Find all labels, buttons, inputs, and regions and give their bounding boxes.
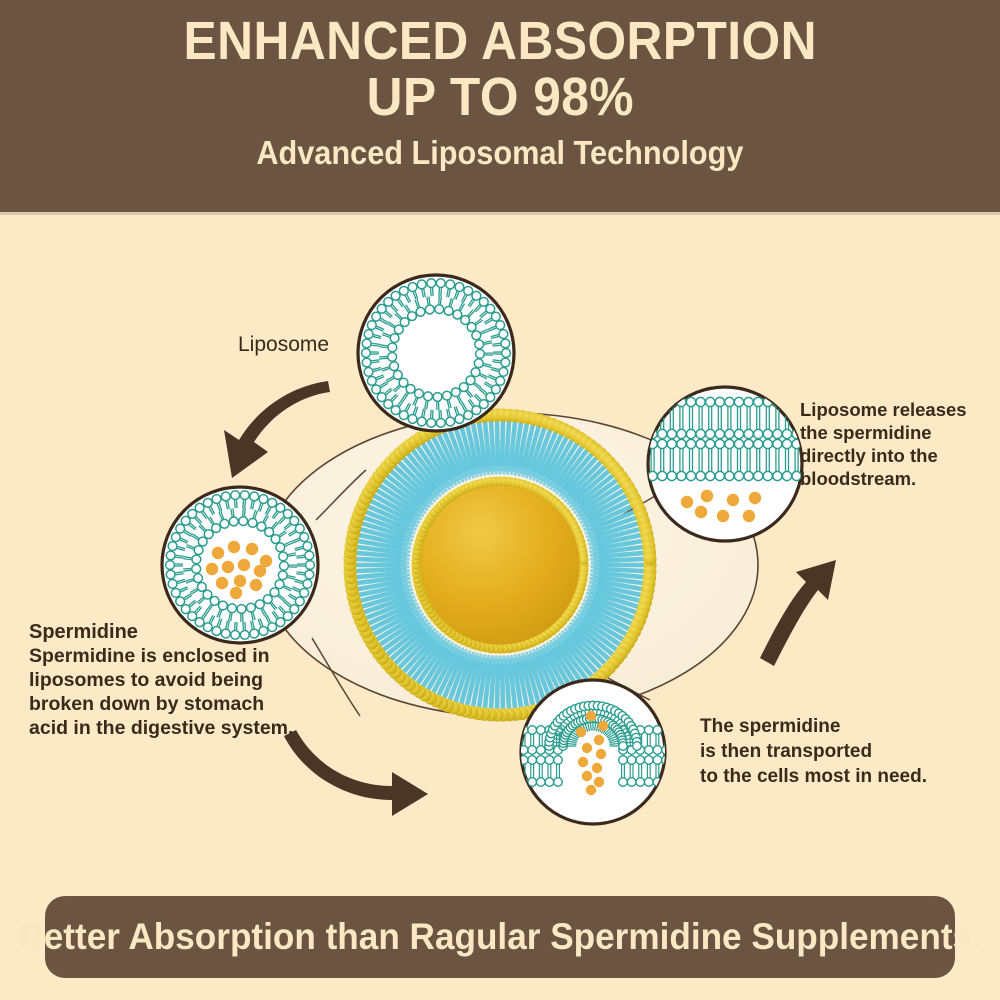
bottom-banner-text: Better Absorption than Ragular Spermidin… xyxy=(18,916,981,958)
arrow-right xyxy=(760,560,836,666)
header-title-line2: UP TO 98% xyxy=(366,70,633,126)
callout-line: The spermidine xyxy=(700,714,927,739)
callout-line: acid in the digestive system. xyxy=(29,716,293,740)
callout-label-liposome: Liposome xyxy=(238,333,329,357)
header-title-line1: ENHANCED ABSORPTION xyxy=(183,14,816,70)
callout-line: Spermidine is enclosed in xyxy=(29,644,293,668)
bottom-banner: Better Absorption than Ragular Spermidin… xyxy=(45,896,955,978)
header-subtitle: Advanced Liposomal Technology xyxy=(256,134,743,172)
callout-line: directly into the xyxy=(800,444,967,467)
callout-line: Liposome releases xyxy=(800,398,967,421)
callout-line: liposomes to avoid being xyxy=(29,668,293,692)
callout-text-spermidine: Spermidine Spermidine is enclosed in lip… xyxy=(29,620,293,740)
header-banner: ENHANCED ABSORPTION UP TO 98% Advanced L… xyxy=(0,0,1000,212)
callout-line: is then transported xyxy=(700,739,927,764)
callout-text-release: Liposome releases the spermidine directl… xyxy=(800,398,967,490)
arrow-top-left xyxy=(224,381,330,478)
infographic-root: ENHANCED ABSORPTION UP TO 98% Advanced L… xyxy=(0,0,1000,1000)
callout-line: the spermidine xyxy=(800,421,967,444)
callout-line: bloodstream. xyxy=(800,467,967,490)
callout-text-transport: The spermidine is then transported to th… xyxy=(700,714,927,789)
callout-circle-liposome xyxy=(358,275,514,431)
arrow-bottom-left xyxy=(284,730,428,816)
header-divider xyxy=(0,212,1000,215)
callout-heading-spermidine: Spermidine xyxy=(29,620,293,644)
callout-line: broken down by stomach xyxy=(29,692,293,716)
callout-line: to the cells most in need. xyxy=(700,764,927,789)
central-liposome xyxy=(343,408,656,721)
